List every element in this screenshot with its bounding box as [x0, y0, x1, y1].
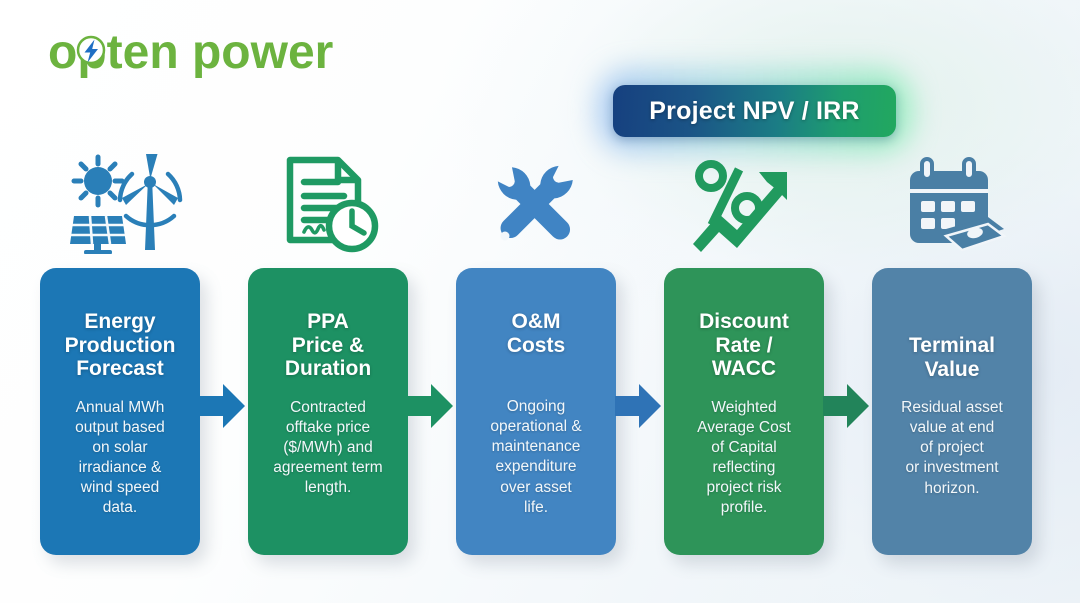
arrow-right-icon — [407, 382, 453, 430]
step-card-4[interactable]: Discount Rate / WACC Weighted Average Co… — [664, 268, 824, 555]
title-line: Value — [909, 358, 995, 382]
step-card-1[interactable]: Energy Production Forecast Annual MWh ou… — [40, 268, 200, 555]
desc-line: profile. — [697, 498, 791, 518]
desc-line: operational & — [490, 417, 581, 437]
desc-line: ($/MWh) and — [273, 438, 382, 458]
title-line: Terminal — [909, 334, 995, 358]
desc-line: offtake price — [273, 418, 382, 438]
step-card-5[interactable]: Terminal Value Residual asset value at e… — [872, 268, 1032, 555]
percent-growth-arrow-icon — [689, 156, 799, 252]
desc-line: wind speed — [75, 478, 165, 498]
desc-line: Contracted — [273, 398, 382, 418]
desc-line: maintenance — [490, 437, 581, 457]
badge-pill[interactable]: Project NPV / IRR — [613, 85, 896, 137]
title-line: Price & — [285, 334, 371, 358]
step-card-title: PPA Price & Duration — [285, 310, 371, 381]
desc-line: life. — [490, 498, 581, 518]
step-card-description: Contracted offtake price ($/MWh) and agr… — [273, 398, 382, 499]
desc-line: value at end — [901, 418, 1003, 438]
desc-line: horizon. — [901, 479, 1003, 499]
desc-line: Weighted — [697, 398, 791, 418]
desc-line: Average Cost — [697, 418, 791, 438]
title-line: PPA — [285, 310, 371, 334]
project-npv-irr-badge[interactable]: Project NPV / IRR — [613, 85, 896, 137]
calendar-money-icon — [896, 155, 1008, 253]
arrow-right-icon — [199, 382, 245, 430]
flow-arrow-4 — [823, 382, 869, 430]
crossed-wrenches-icon — [481, 155, 591, 253]
desc-line: data. — [75, 498, 165, 518]
title-line: WACC — [699, 357, 789, 381]
desc-line: Ongoing — [490, 397, 581, 417]
arrow-right-icon — [615, 382, 661, 430]
title-line: Costs — [507, 334, 565, 358]
step-card-title: Terminal Value — [909, 334, 995, 381]
desc-line: length. — [273, 478, 382, 498]
title-line: Rate / — [699, 334, 789, 358]
step-icon-5 — [872, 152, 1032, 256]
step-card-title: Discount Rate / WACC — [699, 310, 789, 381]
desc-line: or investment — [901, 458, 1003, 478]
step-card-description: Ongoing operational & maintenance expend… — [490, 397, 581, 518]
badge-label: Project NPV / IRR — [649, 97, 859, 126]
desc-line: Annual MWh — [75, 398, 165, 418]
desc-line: reflecting — [697, 458, 791, 478]
desc-line: on solar — [75, 438, 165, 458]
contract-document-clock-icon — [276, 154, 380, 254]
desc-line: Residual asset — [901, 398, 1003, 418]
title-line: Production — [65, 334, 176, 358]
desc-line: output based — [75, 418, 165, 438]
step-card-title: O&M Costs — [507, 310, 565, 357]
arrow-right-icon — [823, 382, 869, 430]
title-line: Energy — [65, 310, 176, 334]
step-card-description: Annual MWh output based on solar irradia… — [75, 398, 165, 519]
brand-logo: opten power — [48, 24, 368, 86]
step-icon-2 — [248, 152, 408, 256]
step-card-3[interactable]: O&M Costs Ongoing operational & maintena… — [456, 268, 616, 555]
step-icon-4 — [664, 152, 824, 256]
title-line: Discount — [699, 310, 789, 334]
desc-line: agreement term — [273, 458, 382, 478]
step-card-description: Weighted Average Cost of Capital reflect… — [697, 398, 791, 519]
step-icon-1 — [40, 152, 200, 256]
title-line: Forecast — [65, 357, 176, 381]
step-card-description: Residual asset value at end of project o… — [901, 398, 1003, 499]
step-icon-3 — [456, 152, 616, 256]
title-line: Duration — [285, 357, 371, 381]
flow-arrow-3 — [615, 382, 661, 430]
infographic-canvas: opten power Project NPV / IRR — [0, 0, 1080, 603]
desc-line: project risk — [697, 478, 791, 498]
solar-wind-energy-icon — [56, 154, 184, 254]
desc-line: irradiance & — [75, 458, 165, 478]
flow-arrow-1 — [199, 382, 245, 430]
lightning-bolt-icon — [78, 37, 104, 63]
step-card-title: Energy Production Forecast — [65, 310, 176, 381]
flow-arrow-2 — [407, 382, 453, 430]
step-card-2[interactable]: PPA Price & Duration Contracted offtake … — [248, 268, 408, 555]
desc-line: over asset — [490, 478, 581, 498]
desc-line: expenditure — [490, 457, 581, 477]
desc-line: of project — [901, 438, 1003, 458]
title-line: O&M — [507, 310, 565, 334]
desc-line: of Capital — [697, 438, 791, 458]
